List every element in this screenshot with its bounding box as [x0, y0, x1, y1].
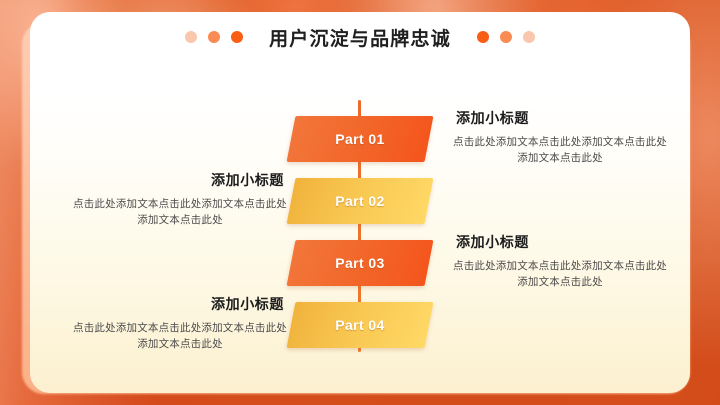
timeline: Part 01 添加小标题 点击此处添加文本点击此处添加文本点击此处添加文本点击…: [30, 62, 690, 393]
timeline-text-block: 添加小标题 点击此处添加文本点击此处添加文本点击此处添加文本点击此处: [70, 170, 290, 229]
dot-light-icon: [523, 31, 535, 43]
timeline-row: Part 02 添加小标题 点击此处添加文本点击此处添加文本点击此处添加文本点击…: [30, 178, 690, 224]
timeline-row: Part 01 添加小标题 点击此处添加文本点击此处添加文本点击此处添加文本点击…: [30, 116, 690, 162]
dot-dark-icon: [477, 31, 489, 43]
timeline-item-title: 添加小标题: [70, 170, 290, 190]
page-title: 用户沉淀与品牌忠诚: [269, 24, 451, 51]
slide-card: 用户沉淀与品牌忠诚 Part 01 添加小标题 点击此处添加文本点击此处添加文本…: [30, 12, 690, 393]
timeline-item-body: 点击此处添加文本点击此处添加文本点击此处添加文本点击此处: [450, 258, 670, 291]
timeline-item-title: 添加小标题: [450, 108, 670, 128]
timeline-badge-part-01[interactable]: Part 01: [287, 116, 434, 162]
timeline-badge-label: Part 04: [291, 302, 429, 348]
timeline-badge-part-02[interactable]: Part 02: [287, 178, 434, 224]
timeline-item-body: 点击此处添加文本点击此处添加文本点击此处添加文本点击此处: [70, 196, 290, 229]
dot-medium-icon: [208, 31, 220, 43]
dot-medium-icon: [500, 31, 512, 43]
header-dots-left: [185, 31, 243, 43]
timeline-item-title: 添加小标题: [450, 232, 670, 252]
timeline-item-body: 点击此处添加文本点击此处添加文本点击此处添加文本点击此处: [70, 320, 290, 353]
timeline-row: Part 04 添加小标题 点击此处添加文本点击此处添加文本点击此处添加文本点击…: [30, 302, 690, 348]
timeline-badge-part-03[interactable]: Part 03: [287, 240, 434, 286]
header-dots-right: [477, 31, 535, 43]
timeline-badge-part-04[interactable]: Part 04: [287, 302, 434, 348]
dot-dark-icon: [231, 31, 243, 43]
dot-light-icon: [185, 31, 197, 43]
timeline-badge-label: Part 03: [291, 240, 429, 286]
timeline-text-block: 添加小标题 点击此处添加文本点击此处添加文本点击此处添加文本点击此处: [450, 108, 670, 167]
timeline-item-body: 点击此处添加文本点击此处添加文本点击此处添加文本点击此处: [450, 134, 670, 167]
timeline-text-block: 添加小标题 点击此处添加文本点击此处添加文本点击此处添加文本点击此处: [450, 232, 670, 291]
timeline-item-title: 添加小标题: [70, 294, 290, 314]
slide-header: 用户沉淀与品牌忠诚: [30, 12, 690, 62]
timeline-badge-label: Part 02: [291, 178, 429, 224]
timeline-text-block: 添加小标题 点击此处添加文本点击此处添加文本点击此处添加文本点击此处: [70, 294, 290, 353]
timeline-row: Part 03 添加小标题 点击此处添加文本点击此处添加文本点击此处添加文本点击…: [30, 240, 690, 286]
timeline-badge-label: Part 01: [291, 116, 429, 162]
